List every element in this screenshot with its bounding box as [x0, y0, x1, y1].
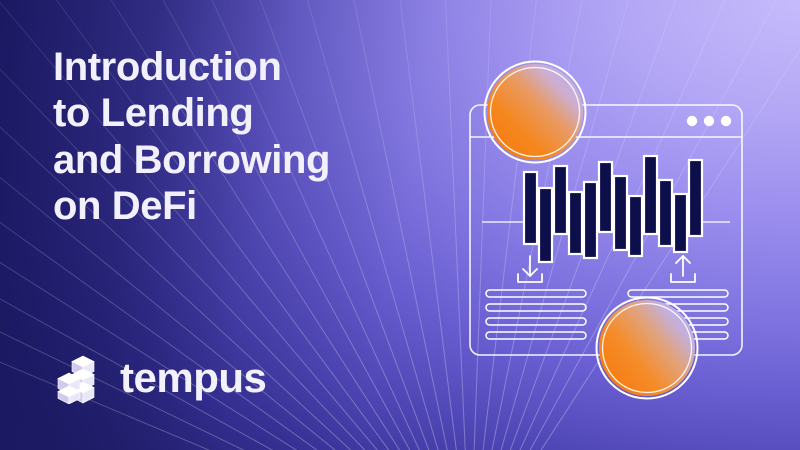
withdraw-icon: [671, 256, 695, 282]
window-control-dots: [687, 116, 731, 126]
defi-dashboard-illustration: [440, 40, 780, 390]
page-title: Introduction to Lending and Borrowing on…: [53, 44, 453, 230]
coin-bottom: [597, 298, 698, 399]
banner-canvas: Introduction to Lending and Borrowing on…: [0, 0, 800, 450]
brand-lockup: tempus: [54, 352, 266, 404]
brand-wordmark: tempus: [120, 357, 266, 399]
text-rows-left: [486, 290, 586, 339]
coin-top: [485, 62, 586, 163]
tempus-logo-icon: [54, 352, 104, 404]
candlestick-bar-chart: [524, 156, 702, 262]
